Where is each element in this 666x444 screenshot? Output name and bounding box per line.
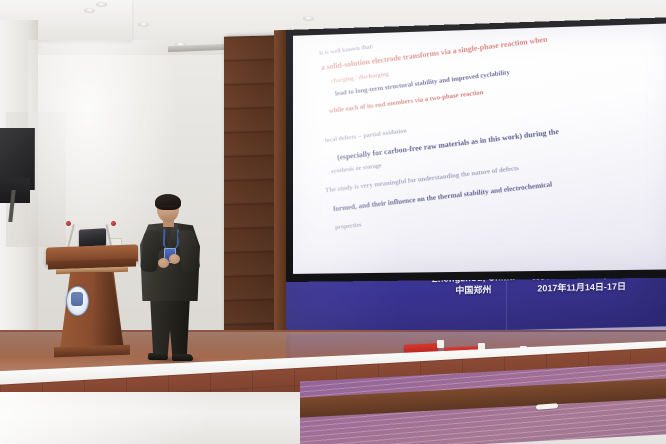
downlight-icon	[138, 22, 149, 27]
presenter-hand	[169, 254, 180, 264]
slide-line: a solid-solution electrode transforms vi…	[321, 34, 548, 72]
presenter-shoe	[148, 353, 168, 360]
presenter-trousers	[150, 295, 190, 357]
projection-screen: It is well known that: a solid-solution …	[286, 17, 666, 282]
lectern-body-shadow	[92, 272, 124, 350]
presenter-arm	[178, 229, 201, 273]
banner-date-cn: 2017年11月14日-17日	[533, 280, 631, 294]
slide-line: synthesis or storage	[331, 163, 382, 175]
microphone-icon	[111, 221, 116, 226]
floor-reflection	[0, 392, 300, 444]
slide-line: local defects -- partial oxidation	[325, 128, 407, 144]
projected-slide: It is well known that: a solid-solution …	[293, 23, 666, 274]
slide-line: lead to long-term structural stability a…	[335, 69, 510, 98]
presenter-lanyard	[163, 229, 180, 250]
slide-line: properties	[335, 222, 362, 231]
presenter-laptop	[79, 228, 106, 246]
lectern	[46, 246, 138, 358]
presenter-hand	[158, 258, 169, 268]
downlight-icon	[96, 2, 107, 7]
presenter	[128, 196, 220, 362]
downlight-icon	[84, 8, 95, 13]
conference-photo: The Prepara 中德“无机 融合 深化 跨越 主办单位: 郑 承办单位:…	[0, 0, 666, 444]
planter-stem	[437, 340, 444, 348]
microphone-icon	[66, 221, 71, 226]
slide-line: It is well known that:	[319, 44, 374, 57]
presenter-shoe	[172, 354, 193, 361]
banner-city-cn: 中国郑州	[432, 283, 515, 297]
university-seal-icon	[66, 286, 89, 316]
wood-wall-panel	[224, 35, 280, 359]
slide-line: charging / discharging	[331, 72, 389, 85]
lectern-base	[54, 345, 130, 358]
glasses-icon	[158, 206, 178, 212]
downlight-icon	[303, 16, 314, 21]
